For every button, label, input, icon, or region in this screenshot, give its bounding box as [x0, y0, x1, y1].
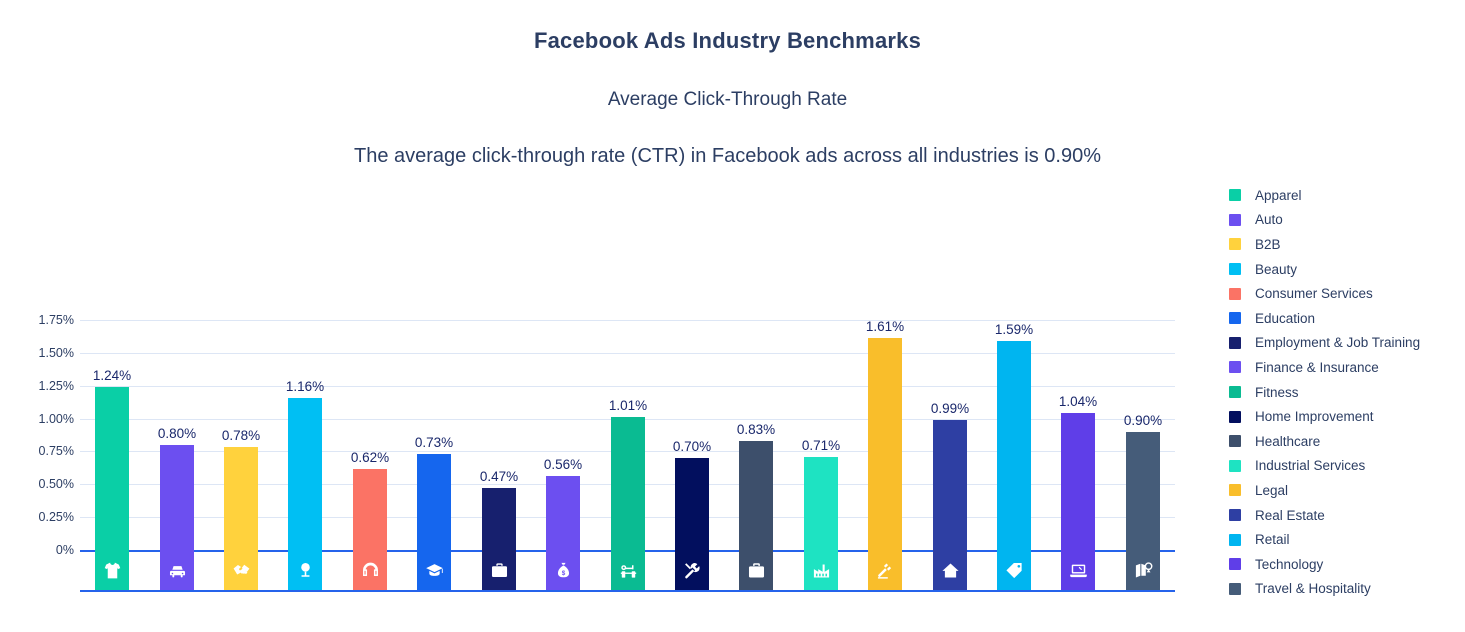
- legend-item-label: Auto: [1255, 212, 1283, 227]
- legend-item-label: Retail: [1255, 532, 1290, 547]
- bar-rect[interactable]: [675, 458, 709, 550]
- legend-item[interactable]: Auto: [1229, 208, 1465, 233]
- house-icon: [933, 550, 967, 590]
- legend-item-label: Consumer Services: [1255, 286, 1373, 301]
- legend-swatch: [1229, 484, 1241, 496]
- bar-rect[interactable]: [353, 469, 387, 550]
- legend-item[interactable]: Education: [1229, 306, 1465, 331]
- bar-rect[interactable]: [417, 454, 451, 550]
- bar-value-label: 0.73%: [415, 435, 453, 450]
- bar-rect[interactable]: [95, 387, 129, 550]
- legend-swatch: [1229, 337, 1241, 349]
- legend-item[interactable]: Fitness: [1229, 380, 1465, 405]
- bar-rect[interactable]: [868, 338, 902, 550]
- legend-item-label: Industrial Services: [1255, 458, 1365, 473]
- bar-value-label: 0.70%: [673, 439, 711, 454]
- handshake-icon: [224, 550, 258, 590]
- y-axis-labels: 0%0.25%0.50%0.75%1.00%1.25%1.50%1.75%: [8, 300, 74, 550]
- legend-item-label: B2B: [1255, 237, 1281, 252]
- bar[interactable]: 0.62%: [353, 469, 387, 550]
- bar-rect[interactable]: [804, 457, 838, 550]
- legend-item[interactable]: Travel & Hospitality: [1229, 577, 1465, 602]
- bar[interactable]: 0.71%: [804, 457, 838, 550]
- bar-rect[interactable]: [611, 417, 645, 550]
- bar-value-label: 0.99%: [931, 401, 969, 416]
- legend-item[interactable]: B2B: [1229, 232, 1465, 257]
- bar-rect[interactable]: [1061, 413, 1095, 550]
- bar[interactable]: 1.59%: [997, 341, 1031, 550]
- legend-item-label: Travel & Hospitality: [1255, 581, 1371, 596]
- bar[interactable]: 0.47%: [482, 488, 516, 550]
- gavel-icon: [868, 550, 902, 590]
- legend-item-label: Finance & Insurance: [1255, 360, 1379, 375]
- bar-series: 1.24%0.80%0.78%1.16%0.62%0.73%0.47%0.56%…: [80, 300, 1175, 590]
- bar-value-label: 1.16%: [286, 379, 324, 394]
- bar-value-label: 0.62%: [351, 450, 389, 465]
- legend-item-label: Home Improvement: [1255, 409, 1374, 424]
- makeup-mirror-icon: [288, 550, 322, 590]
- bar[interactable]: 0.56%: [546, 476, 580, 550]
- bar-rect[interactable]: [288, 398, 322, 550]
- y-axis-tick-label: 0%: [8, 543, 74, 557]
- legend-item-label: Healthcare: [1255, 434, 1320, 449]
- bar-value-label: 0.80%: [158, 426, 196, 441]
- page-title: Facebook Ads Industry Benchmarks: [0, 28, 1455, 54]
- chart-annotation: The average click-through rate (CTR) in …: [0, 145, 1455, 168]
- legend-item-label: Apparel: [1255, 188, 1302, 203]
- bar-rect[interactable]: [739, 441, 773, 550]
- legend-swatch: [1229, 460, 1241, 472]
- legend-item[interactable]: Real Estate: [1229, 503, 1465, 528]
- bar[interactable]: 0.73%: [417, 454, 451, 550]
- legend-swatch: [1229, 534, 1241, 546]
- legend-swatch: [1229, 238, 1241, 250]
- legend-swatch: [1229, 263, 1241, 275]
- bar[interactable]: 0.99%: [933, 420, 967, 550]
- factory-icon: [804, 550, 838, 590]
- bar-value-label: 1.24%: [93, 368, 131, 383]
- chart-legend: ApparelAutoB2BBeautyConsumer ServicesEdu…: [1229, 183, 1465, 601]
- y-axis-tick-label: 1.75%: [8, 313, 74, 327]
- bar-value-label: 0.83%: [737, 422, 775, 437]
- legend-item[interactable]: Home Improvement: [1229, 404, 1465, 429]
- y-axis-tick-label: 0.50%: [8, 477, 74, 491]
- bar[interactable]: 1.16%: [288, 398, 322, 550]
- legend-item-label: Education: [1255, 311, 1315, 326]
- plot-area: 0%0.25%0.50%0.75%1.00%1.25%1.50%1.75% 1.…: [80, 300, 1175, 590]
- legend-swatch: [1229, 288, 1241, 300]
- legend-item-label: Fitness: [1255, 385, 1299, 400]
- bar-rect[interactable]: [224, 447, 258, 550]
- legend-item[interactable]: Employment & Job Training: [1229, 331, 1465, 356]
- dumbbell-icon: [611, 550, 645, 590]
- legend-item[interactable]: Retail: [1229, 527, 1465, 552]
- legend-swatch: [1229, 435, 1241, 447]
- legend-swatch: [1229, 214, 1241, 226]
- legend-swatch: [1229, 558, 1241, 570]
- y-axis-tick-label: 1.00%: [8, 412, 74, 426]
- legend-item-label: Employment & Job Training: [1255, 335, 1420, 350]
- legend-item[interactable]: Healthcare: [1229, 429, 1465, 454]
- bar-value-label: 0.47%: [480, 469, 518, 484]
- legend-swatch: [1229, 583, 1241, 595]
- svg-text:$: $: [561, 569, 565, 576]
- bar[interactable]: 1.01%: [611, 417, 645, 550]
- bar[interactable]: 1.04%: [1061, 413, 1095, 550]
- legend-item[interactable]: Consumer Services: [1229, 281, 1465, 306]
- legend-item[interactable]: Technology: [1229, 552, 1465, 577]
- bar-value-label: 0.78%: [222, 428, 260, 443]
- briefcase-icon: [482, 550, 516, 590]
- y-axis-tick-label: 1.50%: [8, 346, 74, 360]
- bar-value-label: 1.61%: [866, 319, 904, 334]
- legend-swatch: [1229, 411, 1241, 423]
- bar-rect[interactable]: [933, 420, 967, 550]
- money-bag-icon: $: [546, 550, 580, 590]
- bar[interactable]: 1.61%: [868, 338, 902, 550]
- legend-item-label: Legal: [1255, 483, 1288, 498]
- legend-item[interactable]: Industrial Services: [1229, 454, 1465, 479]
- headset-icon: [353, 550, 387, 590]
- legend-item[interactable]: Finance & Insurance: [1229, 355, 1465, 380]
- legend-swatch: [1229, 361, 1241, 373]
- bar[interactable]: 0.83%: [739, 441, 773, 550]
- legend-item[interactable]: Beauty: [1229, 257, 1465, 282]
- axis-baseline: [80, 590, 1175, 592]
- bar-rect[interactable]: [546, 476, 580, 550]
- legend-swatch: [1229, 312, 1241, 324]
- medical-kit-icon: [739, 550, 773, 590]
- bar-rect[interactable]: [997, 341, 1031, 550]
- bar-rect[interactable]: [160, 445, 194, 550]
- bar-value-label: 0.56%: [544, 457, 582, 472]
- legend-item-label: Real Estate: [1255, 508, 1325, 523]
- graduation-cap-icon: [417, 550, 451, 590]
- price-tag-icon: [997, 550, 1031, 590]
- legend-item[interactable]: Legal: [1229, 478, 1465, 503]
- icon-strip: $: [80, 550, 1175, 590]
- y-axis-tick-label: 1.25%: [8, 379, 74, 393]
- chart-page: Facebook Ads Industry Benchmarks Average…: [0, 0, 1465, 632]
- bar-value-label: 1.04%: [1059, 394, 1097, 409]
- y-axis-tick-label: 0.75%: [8, 444, 74, 458]
- legend-item-label: Technology: [1255, 557, 1323, 572]
- legend-item-label: Beauty: [1255, 262, 1297, 277]
- legend-swatch: [1229, 509, 1241, 521]
- y-axis-tick-label: 0.25%: [8, 510, 74, 524]
- chart-subtitle: Average Click-Through Rate: [0, 89, 1455, 111]
- bar[interactable]: 0.70%: [675, 458, 709, 550]
- bar-rect[interactable]: [482, 488, 516, 550]
- bar-value-label: 0.90%: [1124, 413, 1162, 428]
- map-pin-icon: [1126, 550, 1160, 590]
- bar[interactable]: 0.80%: [160, 445, 194, 550]
- car-icon: [160, 550, 194, 590]
- laptop-icon: [1061, 550, 1095, 590]
- bar-value-label: 0.71%: [802, 438, 840, 453]
- bar[interactable]: 1.24%: [95, 387, 129, 550]
- legend-swatch: [1229, 189, 1241, 201]
- bar-rect[interactable]: [1126, 432, 1160, 550]
- bar-value-label: 1.59%: [995, 322, 1033, 337]
- bar-value-label: 1.01%: [609, 398, 647, 413]
- legend-swatch: [1229, 386, 1241, 398]
- hammer-wrench-icon: [675, 550, 709, 590]
- tshirt-icon: [95, 550, 129, 590]
- bar[interactable]: 0.78%: [224, 447, 258, 550]
- legend-item[interactable]: Apparel: [1229, 183, 1465, 208]
- bar[interactable]: 0.90%: [1126, 432, 1160, 550]
